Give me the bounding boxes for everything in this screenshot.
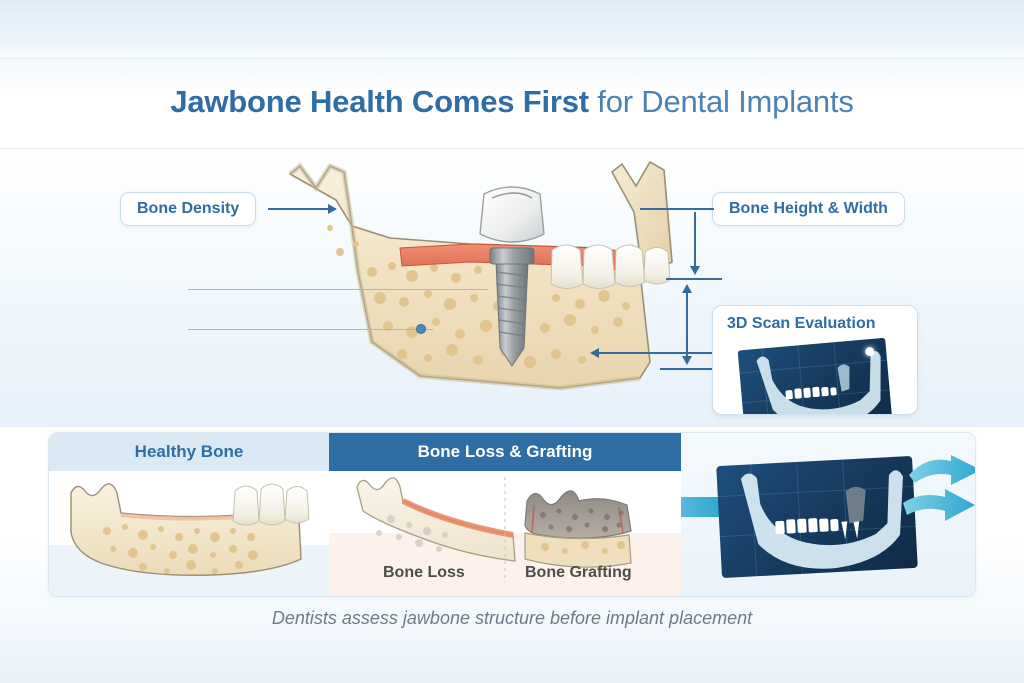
comparison-header-healthy: Healthy Bone	[49, 433, 329, 471]
callout-bone-height-width-label: Bone Height & Width	[729, 200, 888, 217]
comparison-column-xray[interactable]	[681, 433, 976, 597]
connector-bone-height-width	[640, 208, 714, 210]
page-title-strong: Jawbone Health Comes First	[170, 84, 589, 119]
callout-scan-evaluation-label: 3D Scan Evaluation	[727, 315, 876, 333]
arrow-left-icon	[681, 485, 721, 529]
header-divider-bottom	[0, 148, 1024, 149]
callout-bone-density[interactable]: Bone Density	[120, 192, 256, 226]
page-title: Jawbone Health Comes First for Dental Im…	[0, 80, 1024, 124]
implant-crown	[480, 187, 544, 242]
header-divider-top	[0, 58, 1024, 59]
measure-line-upper	[694, 212, 696, 268]
comparison-panel: Healthy Bone	[48, 432, 976, 597]
top-decorative-band	[0, 0, 1024, 58]
bone-density-marker-dot	[416, 324, 426, 334]
arrow-right-icon	[909, 453, 976, 487]
callout-bone-height-width[interactable]: Bone Height & Width	[712, 192, 905, 226]
connector-bone-density	[268, 208, 330, 210]
callout-bone-density-label: Bone Density	[137, 200, 239, 217]
comparison-header-loss-grafting: Bone Loss & Grafting	[329, 433, 681, 471]
arrow-left-icon	[590, 348, 599, 358]
connector-scan-evaluation	[598, 352, 714, 354]
scan-thumbnail	[738, 338, 893, 415]
xray-large-thumbnail	[716, 456, 918, 578]
leader-line-lower	[188, 329, 433, 330]
comparison-column-healthy[interactable]: Healthy Bone	[49, 433, 329, 597]
natural-teeth-group	[551, 245, 670, 289]
sub-label-bone-loss: Bone Loss	[383, 564, 465, 582]
callout-scan-evaluation[interactable]: 3D Scan Evaluation	[712, 305, 918, 415]
healthy-bone-illustration	[49, 471, 329, 597]
comparison-column-loss-grafting[interactable]: Bone Loss & Grafting	[329, 433, 681, 597]
vertical-measure-arrow-icon	[690, 266, 700, 275]
page-caption: Dentists assess jawbone structure before…	[0, 608, 1024, 629]
page-title-light: for Dental Implants	[589, 84, 854, 119]
leader-line-upper	[188, 289, 488, 290]
vertical-measure-arrow-down-icon	[682, 356, 692, 365]
sub-label-bone-grafting: Bone Grafting	[525, 564, 632, 582]
arrow-right-icon	[328, 204, 337, 214]
arrow-right-secondary-icon	[903, 489, 976, 523]
jawbone-health-infographic: Jawbone Health Comes First for Dental Im…	[0, 0, 1024, 683]
implant-abutment	[490, 248, 534, 264]
measure-line-lower	[686, 292, 688, 358]
measure-tick-mid	[666, 278, 722, 280]
